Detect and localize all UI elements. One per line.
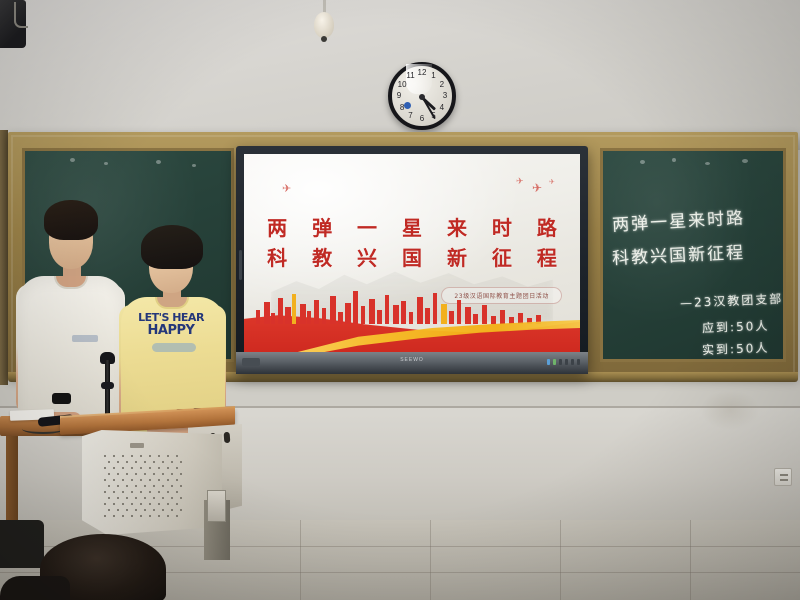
clock-numeral: 12 [416,69,428,77]
grille-hole [131,467,133,469]
display-side-button[interactable] [239,250,242,280]
grille-hole [117,473,119,475]
chalk-dust [672,158,676,162]
grille-hole [108,485,110,487]
socket-slot [780,479,788,481]
chalk-dust [742,159,748,163]
grille-hole [158,467,160,469]
grille-hole [180,509,182,511]
lectern-drawer[interactable] [207,490,226,522]
grille-hole [122,491,124,493]
skyline-building [518,313,523,324]
hair [141,225,203,269]
clock-numeral: 4 [436,104,448,112]
skyline-building [433,293,437,324]
display-bottom-bezel: SEEWO [236,352,588,374]
grille-hole [176,479,178,481]
grille-hole [149,491,151,493]
grille-hole [167,455,169,457]
wall-socket[interactable] [774,468,792,486]
grille-hole [117,461,119,463]
grille-hole [171,473,173,475]
skyline-building [393,305,399,324]
foreground-shadow [0,520,44,568]
chalk-dust [70,158,75,162]
microphone-knob[interactable] [101,382,114,389]
socket-slot [780,474,788,476]
clock-numeral: 7 [405,112,417,120]
led-indicator [571,359,574,365]
skyline-building [330,296,336,324]
grille-hole [108,497,110,499]
grille-hole [176,503,178,505]
chalk-dust [705,162,710,165]
display-power-button[interactable] [242,358,260,366]
grille-hole [149,515,151,517]
grille-hole [113,491,115,493]
wristwatch [52,393,71,404]
skyline-building [482,305,487,324]
grille-hole [149,455,151,457]
grille-hole [135,473,137,475]
grille-hole [162,497,164,499]
audience-member-shoulder [0,576,70,600]
grille-hole [176,455,178,457]
grille-hole [108,473,110,475]
clock-logo-icon [404,102,411,109]
grille-hole [104,503,106,505]
classroom-scene: 12 1 2 3 4 5 6 7 8 9 10 11 两弹一星来时路 科教兴国新… [0,0,800,600]
grille-hole [113,515,115,517]
grille-hole [135,497,137,499]
skyline-building [465,307,471,324]
grille-hole [180,473,182,475]
grille-hole [176,515,178,517]
grille-hole [167,479,169,481]
skyline-building [449,311,454,324]
slide-title-line-1: 两 弹 一 星 来 时 路 [244,212,580,241]
grille-hole [140,503,142,505]
led-indicator [559,359,562,365]
grille-hole [122,515,124,517]
skyline-building [278,298,283,324]
skyline-building [377,310,382,324]
skyline-building [271,313,275,324]
grille-hole [144,485,146,487]
grille-hole [158,491,160,493]
grille-hole [113,479,115,481]
grille-hole [140,491,142,493]
skyline-building [353,291,358,324]
grille-hole [126,473,128,475]
microphone-stand[interactable] [105,360,110,420]
display-brand-label: SEEWO [400,357,424,363]
skyline-building [314,300,319,324]
led-indicator [553,359,556,365]
grille-hole [126,461,128,463]
grille-hole [162,461,164,463]
grille-hole [153,509,155,511]
slide-title-line-2: 科 教 兴 国 新 征 程 [244,242,580,271]
grille-hole [171,509,173,511]
cable [22,424,64,434]
grille-hole [122,479,124,481]
presentation-slide: ✈ ✈ ✈ ✈ 两 弹 一 星 来 时 路 科 教 兴 国 新 征 程 23级汉… [244,154,580,352]
grille-hole [153,497,155,499]
grille-hole [117,497,119,499]
floor-grout-line [430,520,431,600]
port-hole[interactable] [224,432,231,443]
skyline-building [409,312,413,324]
grille-hole [158,503,160,505]
door-edge [0,130,8,385]
grille-hole [171,485,173,487]
clock-numeral: 10 [396,81,408,89]
bird-icon: ✈ [516,176,524,187]
grille-hole [104,455,106,457]
grille-hole [153,461,155,463]
skyline-building [322,308,326,324]
grille-hole [104,479,106,481]
grille-hole [158,479,160,481]
skyline-building [369,299,375,324]
skyline-building [338,312,343,324]
grille-hole [131,491,133,493]
chalk-dust [192,164,196,167]
shirt-graphic-cloud [152,343,196,352]
grille-hole [162,473,164,475]
led-indicator [547,359,550,365]
skyline-building [457,300,461,324]
display-screen[interactable]: ✈ ✈ ✈ ✈ 两 弹 一 星 来 时 路 科 教 兴 国 新 征 程 23级汉… [244,154,580,352]
shirt-print [72,335,98,342]
shirt-text-line-2: HAPPY [148,324,195,338]
clock-numeral: 6 [416,115,428,123]
bird-icon: ✈ [549,178,555,186]
grille-hole [140,479,142,481]
skyline-building [500,310,505,324]
grille-hole [162,509,164,511]
grille-hole [180,461,182,463]
grille-hole [126,497,128,499]
skyline-building [361,306,365,324]
grille-hole [144,461,146,463]
grille-hole [108,461,110,463]
grille-hole [117,485,119,487]
grille-hole [108,509,110,511]
grille-hole [135,461,137,463]
chalk-dust [104,162,108,165]
grille-hole [131,455,133,457]
grille-hole [131,503,133,505]
grille-hole [167,515,169,517]
grille-hole [113,467,115,469]
grille-hole [122,467,124,469]
grille-hole [158,515,160,517]
skyline-building [441,304,447,324]
floor-grout-line [690,520,691,600]
clock-numeral: 1 [428,72,440,80]
grille-hole [153,473,155,475]
grille-hole [131,479,133,481]
grille-hole [158,455,160,457]
wall-smudge [700,390,760,430]
grille-hole [180,485,182,487]
grille-hole [171,461,173,463]
clock-numeral: 2 [436,81,448,89]
grille-hole [176,491,178,493]
grille-hole [104,467,106,469]
chalk-dust [156,160,161,164]
grille-hole [113,503,115,505]
display-status-leds [547,359,580,365]
grille-hole [144,497,146,499]
grille-hole [113,455,115,457]
grille-hole [149,503,151,505]
grille-hole [140,467,142,469]
grille-hole [153,485,155,487]
skyline-building [425,308,430,324]
grille-hole [122,455,124,457]
skyline-building [307,311,311,324]
pendant-bulb-icon [314,12,334,38]
grille-hole [122,503,124,505]
clock-center-pin [419,94,425,100]
speaker-bracket [14,2,28,28]
side-table-leg [6,436,18,526]
grille-hole [149,467,151,469]
skyline-building [417,297,423,324]
floor-grout-line [300,520,301,600]
bird-icon: ✈ [282,182,291,195]
skyline-building [473,314,478,324]
pendant-tip [321,36,327,42]
lectern-speaker-grille [104,455,188,521]
lectern-badge [130,443,144,448]
skyline-building [401,301,406,324]
grille-hole [167,491,169,493]
chalk-dust [640,160,645,164]
slide-city-skyline [244,288,580,324]
skyline-building [385,295,389,324]
skyline-building [300,304,306,324]
grille-hole [167,503,169,505]
grille-hole [180,497,182,499]
clock-numeral: 9 [393,92,405,100]
grille-hole [104,491,106,493]
chalk-line-4: 应到:50人 [702,317,770,337]
grille-hole [117,509,119,511]
grille-hole [162,485,164,487]
skyline-building [264,302,270,324]
skyline-building [491,316,496,324]
skyline-building [345,303,351,324]
led-indicator [565,359,568,365]
grille-hole [104,515,106,517]
skyline-building [285,307,291,324]
grille-hole [144,509,146,511]
hair [44,200,98,240]
grille-hole [140,515,142,517]
bird-icon: ✈ [532,181,542,195]
grille-hole [131,515,133,517]
grille-hole [171,497,173,499]
grille-hole [167,467,169,469]
grille-hole [126,509,128,511]
chalk-line-5: 实到:50人 [702,339,770,359]
skyline-building [292,294,296,324]
skyline-building [256,310,260,324]
grille-hole [135,509,137,511]
wall-clock: 12 1 2 3 4 5 6 7 8 9 10 11 [388,62,456,130]
led-indicator [577,359,580,365]
grille-hole [176,467,178,469]
clock-numeral: 11 [405,72,417,80]
smart-display[interactable]: ✈ ✈ ✈ ✈ 两 弹 一 星 来 时 路 科 教 兴 国 新 征 程 23级汉… [236,146,588,374]
grille-hole [126,485,128,487]
grille-hole [140,455,142,457]
grille-hole [135,485,137,487]
clock-numeral: 3 [439,92,451,100]
grille-hole [149,479,151,481]
floor-grout-line [560,520,561,600]
grille-hole [144,473,146,475]
